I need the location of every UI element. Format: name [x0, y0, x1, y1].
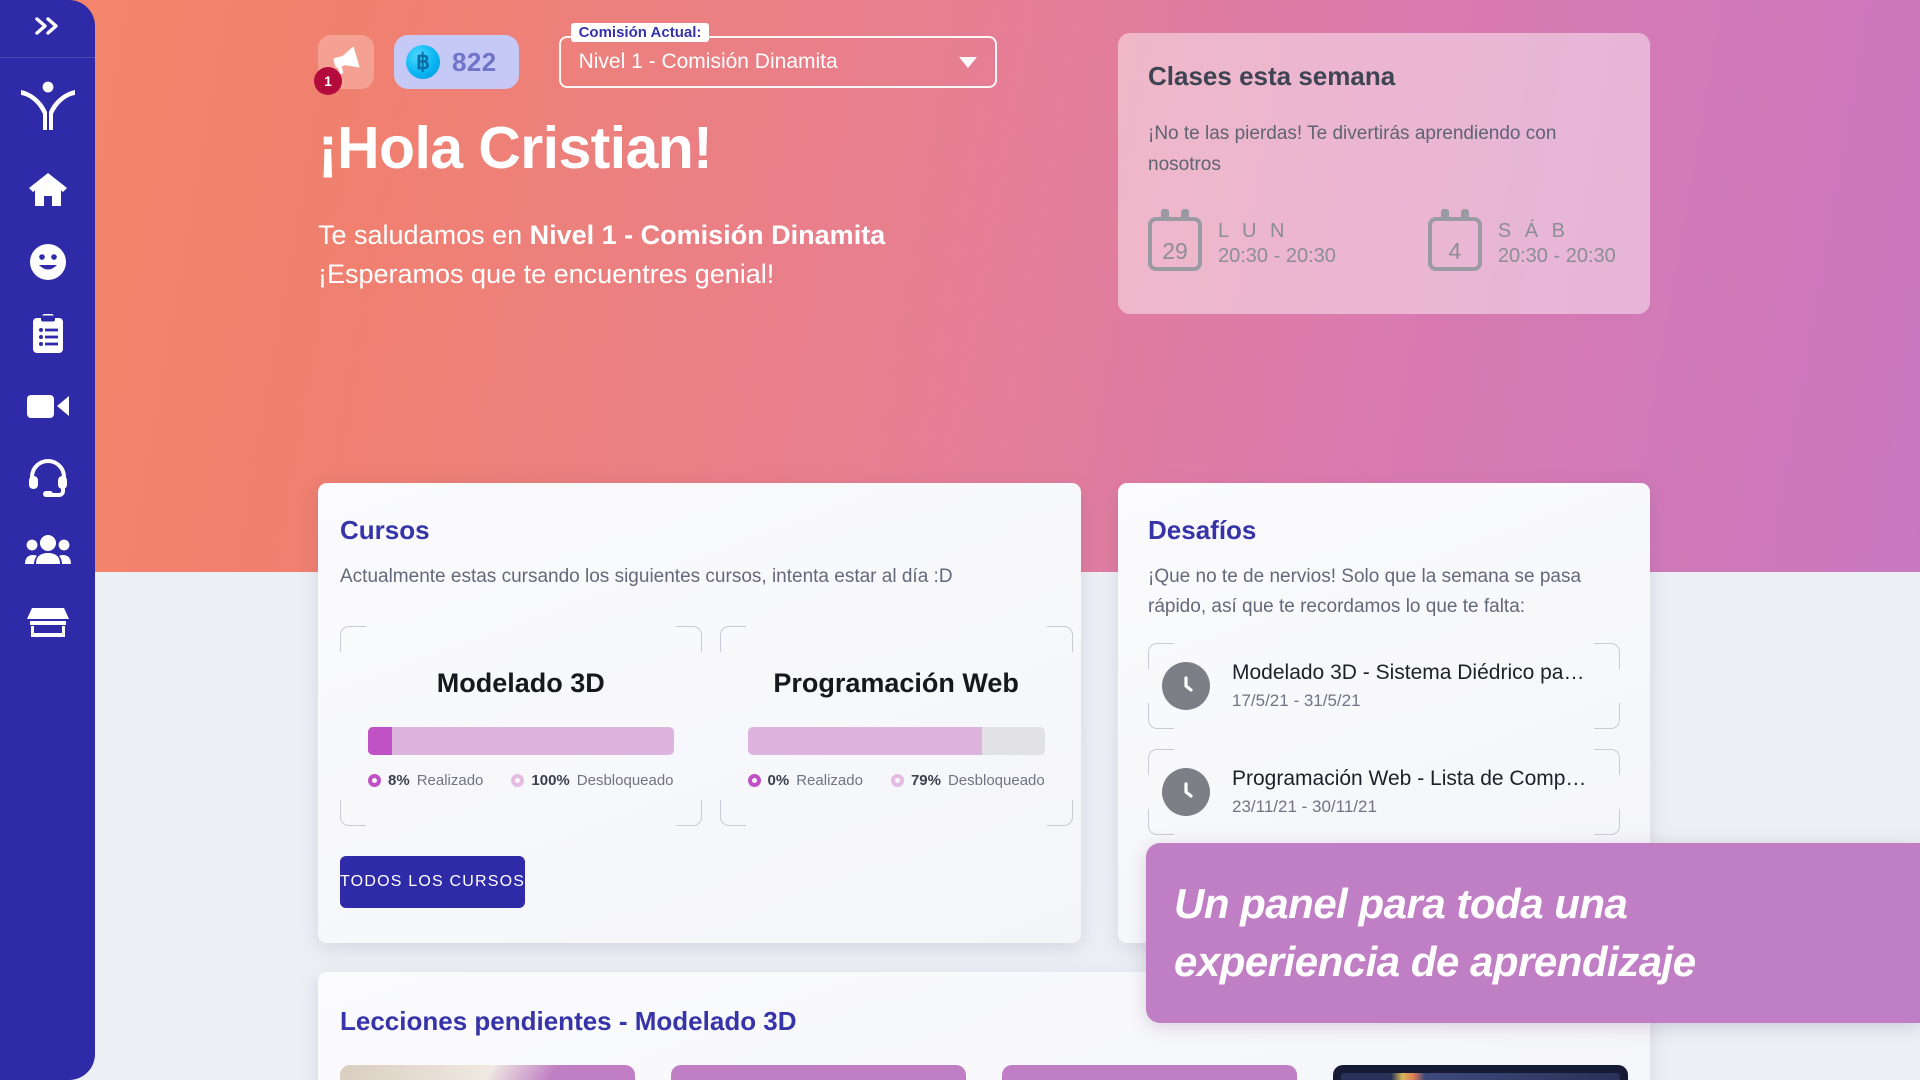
pending-lessons-list [318, 1037, 1650, 1080]
course-progress-done [368, 727, 392, 755]
dot-icon [891, 774, 904, 787]
commission-label: Comisión Actual: [571, 23, 710, 42]
coin-balance-value: 822 [452, 47, 497, 78]
courses-title: Cursos [340, 515, 1059, 546]
page-title: ¡Hola Cristian! [318, 118, 885, 180]
class-day-time: 20:30 - 20:30 [1498, 245, 1616, 268]
challenges-description: ¡Que no te de nervios! Solo que la seman… [1148, 562, 1620, 623]
commission-select[interactable]: Nivel 1 - Comisión Dinamita [559, 36, 997, 88]
lesson-thumbnail[interactable] [1002, 1065, 1297, 1080]
sidebar-collapse-button[interactable] [0, 0, 95, 58]
course-progress-bar [748, 727, 1045, 755]
hero-greeting-line2: ¡Esperamos que te encuentres genial! [318, 255, 885, 294]
headset-icon [27, 458, 69, 498]
class-day-info: L U N 20:30 - 20:30 [1218, 220, 1336, 268]
promo-overlay-text: Un panel para toda una experiencia de ap… [1174, 875, 1696, 991]
class-day-name: L U N [1218, 220, 1288, 242]
corner-brackets [720, 626, 1073, 826]
challenge-name: Modelado 3D - Sistema Diédrico pa… [1232, 661, 1585, 685]
corner-brackets [340, 626, 702, 826]
commission-selected-value: Nivel 1 - Comisión Dinamita [579, 50, 838, 74]
legend-done-suffix: Realizado [417, 772, 484, 789]
clock-icon [1162, 662, 1210, 710]
all-courses-button[interactable]: TODOS LOS CURSOS [340, 856, 525, 908]
home-icon [27, 170, 69, 210]
courses-list: Modelado 3D 8% Realizado 100% Desbloquea… [340, 626, 1059, 826]
challenge-dates: 23/11/21 - 30/11/21 [1232, 797, 1586, 817]
dashboard-page: 1 ฿ 822 Comisión Actual: Nivel 1 - Comis… [0, 0, 1920, 1080]
hero-subtitle: Te saludamos en Nivel 1 - Comisión Dinam… [318, 216, 885, 294]
course-name: Modelado 3D [368, 668, 674, 699]
class-day-name: S Á B [1498, 220, 1569, 242]
sidebar-item-profile[interactable] [0, 226, 95, 298]
hero-greeting-prefix: Te saludamos en [318, 220, 530, 250]
sidebar-item-logo[interactable] [0, 58, 95, 154]
announcements-button[interactable]: 1 [318, 35, 374, 89]
courses-description: Actualmente estas cursando los siguiente… [340, 562, 1059, 592]
promo-line-2: experiencia de aprendizaje [1174, 933, 1696, 991]
course-progress-legend: 8% Realizado 100% Desbloqueado [368, 772, 674, 789]
academy-logo-icon [19, 78, 77, 134]
legend-unlocked-value: 79% [911, 772, 941, 789]
challenge-item[interactable]: Programación Web - Lista de Comp… 23/11/… [1148, 749, 1620, 835]
sidebar-item-home[interactable] [0, 154, 95, 226]
dot-icon [748, 774, 761, 787]
weekly-classes-card: Clases esta semana ¡No te las pierdas! T… [1118, 33, 1650, 314]
sidebar-item-tasks[interactable] [0, 298, 95, 370]
challenge-name: Programación Web - Lista de Comp… [1232, 767, 1586, 791]
lesson-thumbnail[interactable] [1333, 1065, 1628, 1080]
weekly-classes-days: 29 L U N 20:30 - 20:30 4 S Á B 20:30 - 2… [1148, 217, 1620, 271]
dot-icon [511, 774, 524, 787]
legend-unlocked-suffix: Desbloqueado [577, 772, 674, 789]
legend-unlocked-value: 100% [531, 772, 569, 789]
topbar: 1 ฿ 822 Comisión Actual: Nivel 1 - Comis… [318, 35, 997, 89]
challenge-text: Programación Web - Lista de Comp… 23/11/… [1232, 767, 1586, 817]
challenges-title: Desafíos [1148, 515, 1620, 546]
course-progress-unlocked [748, 727, 983, 755]
class-day-time: 20:30 - 20:30 [1218, 245, 1336, 268]
challenge-item[interactable]: Modelado 3D - Sistema Diédrico pa… 17/5/… [1148, 643, 1620, 729]
course-progress-bar [368, 727, 674, 755]
courses-card: Cursos Actualmente estas cursando los si… [318, 483, 1081, 943]
sidebar-item-classes[interactable] [0, 370, 95, 442]
chevrons-right-icon [33, 16, 63, 41]
calendar-icon: 4 [1428, 217, 1482, 271]
lesson-thumbnail[interactable] [671, 1065, 966, 1080]
legend-unlocked: 100% Desbloqueado [511, 772, 673, 789]
weekly-classes-description: ¡No te las pierdas! Te divertirás aprend… [1148, 118, 1618, 181]
challenge-dates: 17/5/21 - 31/5/21 [1232, 691, 1585, 711]
course-name: Programación Web [748, 668, 1045, 699]
coin-balance[interactable]: ฿ 822 [394, 35, 519, 89]
smiley-icon [28, 242, 68, 282]
users-icon [25, 534, 71, 566]
course-progress-legend: 0% Realizado 79% Desbloqueado [748, 772, 1045, 789]
commission-selector-wrapper: Comisión Actual: Nivel 1 - Comisión Dina… [559, 36, 997, 88]
clipboard-icon [30, 313, 66, 355]
calendar-icon: 29 [1148, 217, 1202, 271]
legend-unlocked-suffix: Desbloqueado [948, 772, 1045, 789]
sidebar-item-support[interactable] [0, 442, 95, 514]
course-item[interactable]: Programación Web 0% Realizado 79% Desblo… [720, 626, 1073, 826]
legend-done: 8% Realizado [368, 772, 483, 789]
challenges-card-body: Desafíos ¡Que no te de nervios! Solo que… [1118, 483, 1650, 835]
dot-icon [368, 774, 381, 787]
class-day-info: S Á B 20:30 - 20:30 [1498, 220, 1616, 268]
hero-text: ¡Hola Cristian! Te saludamos en Nivel 1 … [318, 118, 885, 294]
promo-line-1: Un panel para toda una [1174, 875, 1696, 933]
store-icon [26, 604, 70, 640]
class-day[interactable]: 29 L U N 20:30 - 20:30 [1148, 217, 1336, 271]
courses-card-body: Cursos Actualmente estas cursando los si… [318, 483, 1081, 826]
legend-done-suffix: Realizado [796, 772, 863, 789]
hero-greeting-commission: Nivel 1 - Comisión Dinamita [530, 220, 886, 250]
legend-done-value: 0% [768, 772, 790, 789]
bitcoin-icon: ฿ [406, 45, 440, 79]
legend-done-value: 8% [388, 772, 410, 789]
weekly-classes-title: Clases esta semana [1148, 61, 1620, 92]
sidebar-item-store[interactable] [0, 586, 95, 658]
sidebar [0, 0, 95, 1080]
clock-icon [1162, 768, 1210, 816]
challenge-text: Modelado 3D - Sistema Diédrico pa… 17/5/… [1232, 661, 1585, 711]
course-progress-unlocked [368, 727, 674, 755]
notification-badge: 1 [314, 67, 342, 95]
promo-overlay-banner: Un panel para toda una experiencia de ap… [1146, 843, 1920, 1023]
legend-done: 0% Realizado [748, 772, 863, 789]
class-day[interactable]: 4 S Á B 20:30 - 20:30 [1428, 217, 1616, 271]
chevron-down-icon [959, 57, 977, 68]
legend-unlocked: 79% Desbloqueado [891, 772, 1045, 789]
course-item[interactable]: Modelado 3D 8% Realizado 100% Desbloquea… [340, 626, 702, 826]
video-camera-icon [26, 390, 70, 422]
sidebar-item-community[interactable] [0, 514, 95, 586]
lesson-thumbnail[interactable] [340, 1065, 635, 1080]
